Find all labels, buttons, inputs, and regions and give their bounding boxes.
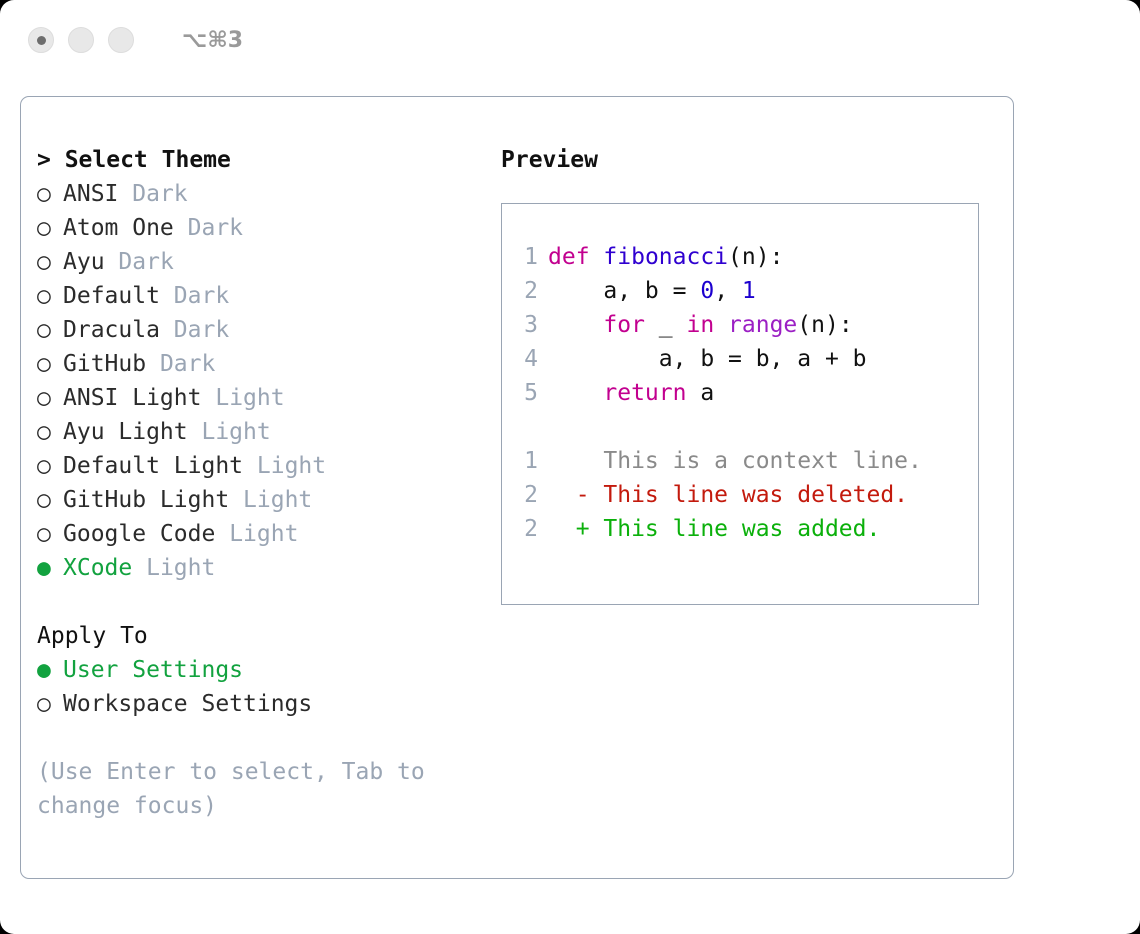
theme-selector-column: > Select Theme ○ANSI Dark○Atom One Dark○… [21,97,491,878]
theme-option-kind: Dark [118,249,173,275]
diff-line-number: 2 [516,512,538,546]
theme-option[interactable]: ○Default Light Light [37,449,491,483]
theme-option-kind: Dark [160,351,215,377]
window-dot-active-inner [37,36,46,45]
theme-option[interactable]: ○ANSI Dark [37,177,491,211]
code-sample: 1def fibonacci(n):2 a, b = 0, 13 for _ i… [516,240,978,410]
preview-title: Preview [501,143,1013,177]
theme-option-label: ANSI Light [63,385,201,411]
code-line: 1def fibonacci(n): [516,240,978,274]
code-token: a, b = [548,278,700,304]
code-token [714,312,728,338]
theme-option-label: Default Light [63,453,243,479]
theme-option-label: Ayu Light [63,419,188,445]
apply-to-list[interactable]: ●User Settings○Workspace Settings [37,653,491,721]
theme-option[interactable]: ○GitHub Dark [37,347,491,381]
theme-option-kind: Dark [132,181,187,207]
code-spacer [516,410,978,444]
diff-marker: - [548,482,603,508]
theme-option-label: GitHub Light [63,487,229,513]
preview-box: 1def fibonacci(n):2 a, b = 0, 13 for _ i… [501,203,979,605]
theme-option-label: Dracula [63,317,160,343]
theme-option-kind: Light [215,385,284,411]
theme-list[interactable]: ○ANSI Dark○Atom One Dark○Ayu Dark○Defaul… [37,177,491,585]
label-space [188,419,202,445]
code-token [590,244,604,270]
label-space [160,283,174,309]
code-token: return [603,380,686,406]
preview-column: Preview 1def fibonacci(n):2 a, b = 0, 13… [491,97,1013,878]
theme-option[interactable]: ○GitHub Light Light [37,483,491,517]
window-dot-active-icon[interactable] [28,27,54,53]
diff-line: 1 This is a context line. [516,444,978,478]
theme-option[interactable]: ○Ayu Light Light [37,415,491,449]
apply-to-option[interactable]: ○Workspace Settings [37,687,491,721]
theme-option-kind: Light [243,487,312,513]
theme-option[interactable]: ○ANSI Light Light [37,381,491,415]
apply-to-option[interactable]: ●User Settings [37,653,491,687]
theme-option[interactable]: ●XCode Light [37,551,491,585]
theme-option[interactable]: ○Ayu Dark [37,245,491,279]
radio-unselected-icon: ○ [37,381,63,415]
apply-to-header: Apply To [37,619,491,653]
keyboard-shortcut-label: ⌥⌘3 [182,28,243,53]
window-dot-third-icon[interactable] [108,27,134,53]
main-panel: > Select Theme ○ANSI Dark○Atom One Dark○… [20,96,1014,879]
radio-unselected-icon: ○ [37,687,63,721]
code-line: 5 return a [516,376,978,410]
radio-unselected-icon: ○ [37,211,63,245]
code-token: in [686,312,714,338]
label-space [174,215,188,241]
label-space [201,385,215,411]
code-token [548,380,603,406]
radio-selected-icon: ● [37,551,63,585]
label-space [215,521,229,547]
code-token: a [686,380,714,406]
label-space [243,453,257,479]
radio-unselected-icon: ○ [37,483,63,517]
app-window: ⌥⌘3 > Select Theme ○ANSI Dark○Atom One D… [0,0,1140,934]
diff-line-text: This line was deleted. [603,482,908,508]
radio-selected-icon: ● [37,653,63,687]
apply-to-option-label: Workspace Settings [63,691,312,717]
window-dot-second-icon[interactable] [68,27,94,53]
theme-option-kind: Dark [188,215,243,241]
theme-option-kind: Light [229,521,298,547]
theme-option-kind: Dark [174,283,229,309]
radio-unselected-icon: ○ [37,245,63,279]
theme-option-label: Ayu [63,249,105,275]
code-token: 1 [742,278,756,304]
radio-unselected-icon: ○ [37,313,63,347]
label-space [146,351,160,377]
theme-option[interactable]: ○Default Dark [37,279,491,313]
theme-option-label: ANSI [63,181,118,207]
radio-unselected-icon: ○ [37,415,63,449]
code-line: 3 for _ in range(n): [516,308,978,342]
code-token: def [548,244,590,270]
label-space [229,487,243,513]
diff-marker [548,448,603,474]
select-theme-header: > Select Theme [37,143,491,177]
theme-option-label: Atom One [63,215,174,241]
diff-line: 2 - This line was deleted. [516,478,978,512]
label-space [118,181,132,207]
theme-option[interactable]: ○Google Code Light [37,517,491,551]
diff-marker: + [548,516,603,542]
code-line: 2 a, b = 0, 1 [516,274,978,308]
code-token: 0 [700,278,714,304]
diff-line-text: This line was added. [603,516,880,542]
code-line-number: 1 [516,240,538,274]
code-token: a, b = b, a + b [548,346,867,372]
radio-unselected-icon: ○ [37,279,63,313]
code-token: fibonacci [603,244,728,270]
theme-option-kind: Dark [174,317,229,343]
theme-option-label: GitHub [63,351,146,377]
theme-option-label: Google Code [63,521,215,547]
radio-unselected-icon: ○ [37,347,63,381]
theme-option-kind: Light [257,453,326,479]
diff-line-text: This is a context line. [603,448,922,474]
theme-option[interactable]: ○Atom One Dark [37,211,491,245]
code-token: range [728,312,797,338]
theme-option[interactable]: ○Dracula Dark [37,313,491,347]
diff-line-number: 1 [516,444,538,478]
theme-option-label: Default [63,283,160,309]
label-space [105,249,119,275]
label-space [132,555,146,581]
theme-option-kind: Light [201,419,270,445]
diff-line-number: 2 [516,478,538,512]
theme-option-label: XCode [63,555,132,581]
keyboard-hint-text: (Use Enter to select, Tab to change focu… [37,755,447,823]
radio-unselected-icon: ○ [37,449,63,483]
code-token: (n): [728,244,783,270]
code-line-number: 5 [516,376,538,410]
code-token [548,312,603,338]
code-token: , [714,278,742,304]
title-bar: ⌥⌘3 [0,0,1140,80]
code-token: (n): [797,312,852,338]
code-token: for [603,312,645,338]
radio-unselected-icon: ○ [37,177,63,211]
code-line-number: 4 [516,342,538,376]
apply-to-option-label: User Settings [63,657,243,683]
diff-line: 2 + This line was added. [516,512,978,546]
code-line-number: 2 [516,274,538,308]
diff-sample: 1 This is a context line.2 - This line w… [516,444,978,546]
code-line-number: 3 [516,308,538,342]
radio-unselected-icon: ○ [37,517,63,551]
code-token: _ [645,312,687,338]
code-line: 4 a, b = b, a + b [516,342,978,376]
theme-option-kind: Light [146,555,215,581]
label-space [160,317,174,343]
